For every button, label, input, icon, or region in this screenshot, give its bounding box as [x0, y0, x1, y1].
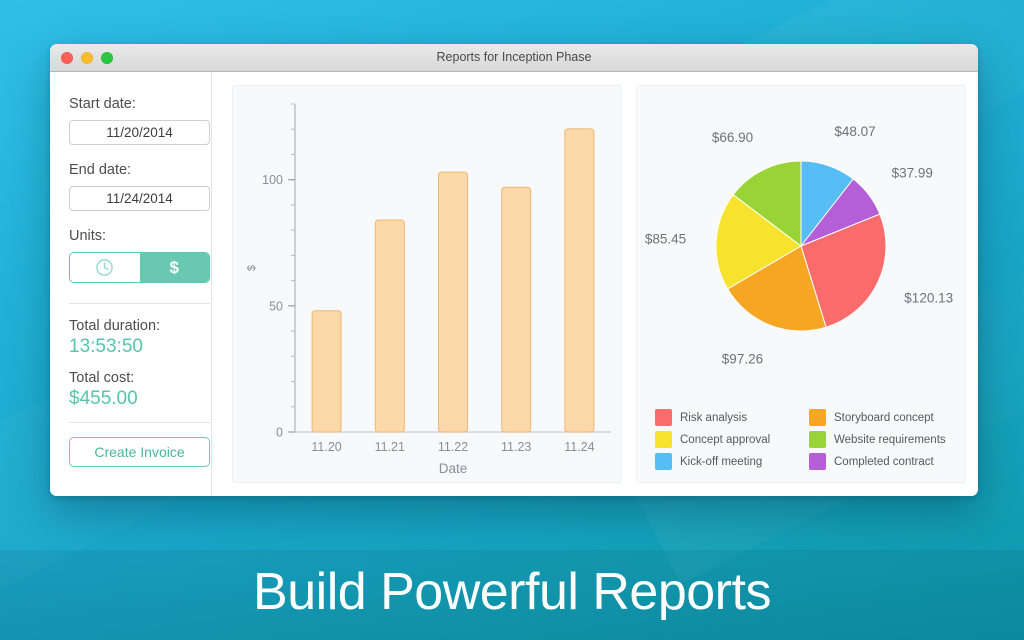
legend-swatch: [655, 431, 672, 448]
pie-data-label: $37.99: [892, 166, 933, 181]
bar-y-axis-title: $: [246, 265, 258, 271]
pie-chart-panel: $48.07$37.99$120.13$97.26$85.45$66.90 Ri…: [636, 85, 966, 483]
legend-item: Kick-off meeting: [655, 453, 803, 470]
sidebar-divider-top: [69, 303, 210, 304]
bar-y-tick-label: 50: [269, 299, 283, 313]
units-option-time[interactable]: [70, 253, 140, 282]
legend-item: Completed contract: [809, 453, 957, 470]
total-cost-value: $455.00: [69, 388, 211, 410]
marketing-caption: Build Powerful Reports: [0, 562, 1024, 622]
start-date-input[interactable]: 11/20/2014: [69, 120, 210, 145]
desktop-background: Reports for Inception Phase Start date: …: [0, 0, 1024, 640]
end-date-input[interactable]: 11/24/2014: [69, 186, 210, 211]
pie-legend: Risk analysisStoryboard conceptConcept a…: [655, 409, 957, 470]
legend-swatch: [809, 453, 826, 470]
clock-icon: [95, 258, 114, 277]
bar: [439, 172, 468, 432]
pie-data-label: $66.90: [712, 130, 753, 145]
charts-region: 05010011.2011.2111.2211.2311.24Date$ $48…: [212, 72, 978, 496]
legend-label: Kick-off meeting: [680, 456, 762, 468]
bar: [502, 187, 531, 432]
pie-data-label: $85.45: [645, 231, 686, 246]
legend-label: Website requirements: [834, 434, 946, 446]
bar: [312, 311, 341, 432]
bar-x-tick-label: 11.23: [501, 440, 531, 454]
total-cost-label: Total cost:: [69, 370, 211, 386]
bar-y-tick-label: 100: [262, 173, 283, 187]
bar-chart: 05010011.2011.2111.2211.2311.24Date$: [233, 86, 621, 482]
bar: [565, 129, 594, 432]
bar-x-tick-label: 11.22: [438, 440, 468, 454]
legend-label: Storyboard concept: [834, 412, 934, 424]
units-option-money[interactable]: $: [140, 253, 210, 282]
start-date-label: Start date:: [69, 96, 211, 112]
legend-swatch: [809, 431, 826, 448]
sidebar-divider-bottom: [69, 422, 210, 423]
legend-swatch: [655, 409, 672, 426]
window-title: Reports for Inception Phase: [50, 50, 978, 64]
legend-swatch: [655, 453, 672, 470]
pie-data-label: $120.13: [904, 290, 953, 305]
legend-item: Website requirements: [809, 431, 957, 448]
legend-item: Risk analysis: [655, 409, 803, 426]
bar-x-tick-label: 11.21: [375, 440, 405, 454]
pie-data-label: $97.26: [722, 351, 763, 366]
legend-label: Concept approval: [680, 434, 770, 446]
legend-label: Risk analysis: [680, 412, 747, 424]
legend-label: Completed contract: [834, 456, 934, 468]
legend-item: Storyboard concept: [809, 409, 957, 426]
window-titlebar[interactable]: Reports for Inception Phase: [50, 44, 978, 72]
bar-chart-panel: 05010011.2011.2111.2211.2311.24Date$: [232, 85, 622, 483]
legend-swatch: [809, 409, 826, 426]
bar: [375, 220, 404, 432]
bar-x-tick-label: 11.24: [564, 440, 594, 454]
total-duration-value: 13:53:50: [69, 336, 211, 358]
bar-x-axis-title: Date: [439, 461, 468, 476]
dollar-icon: $: [170, 258, 179, 278]
units-label: Units:: [69, 228, 211, 244]
total-duration-label: Total duration:: [69, 318, 211, 334]
units-segmented-control: $: [69, 252, 210, 283]
end-date-label: End date:: [69, 162, 211, 178]
pie-chart: $48.07$37.99$120.13$97.26$85.45$66.90: [637, 86, 965, 416]
bar-x-tick-label: 11.20: [311, 440, 341, 454]
bar-y-tick-label: 0: [276, 426, 283, 440]
sidebar: Start date: 11/20/2014 End date: 11/24/2…: [50, 72, 212, 496]
window-body: Start date: 11/20/2014 End date: 11/24/2…: [50, 72, 978, 496]
create-invoice-button[interactable]: Create Invoice: [69, 437, 210, 467]
legend-item: Concept approval: [655, 431, 803, 448]
pie-data-label: $48.07: [834, 124, 875, 139]
app-window: Reports for Inception Phase Start date: …: [50, 44, 978, 496]
